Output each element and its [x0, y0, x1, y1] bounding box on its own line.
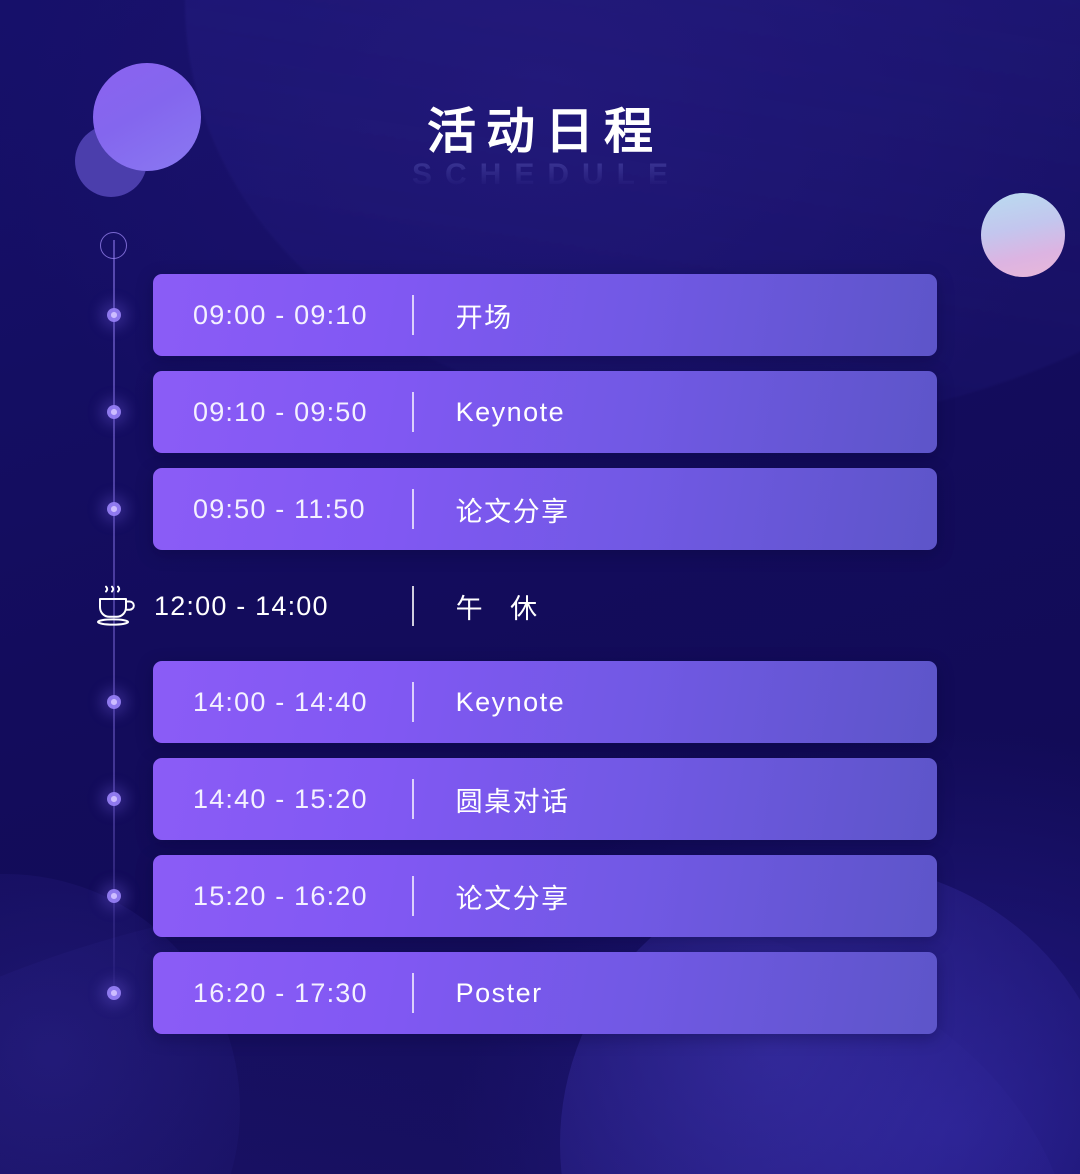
schedule-poster: 活动日程 SCHEDULE 09:00 - 09:10开场09:10 - 09:…	[0, 0, 1080, 1174]
schedule-row[interactable]: 14:00 - 14:40Keynote	[153, 661, 937, 743]
schedule-topic: 午 休	[414, 587, 548, 626]
schedule-time: 15:20 - 16:20	[153, 881, 412, 912]
schedule-row[interactable]: 12:00 - 14:00午 休	[92, 565, 937, 647]
schedule-topic: Keynote	[414, 687, 566, 718]
schedule-row[interactable]: 15:20 - 16:20论文分享	[153, 855, 937, 937]
schedule-time: 12:00 - 14:00	[154, 591, 412, 622]
schedule-topic: Keynote	[414, 397, 566, 428]
schedule-time: 09:50 - 11:50	[153, 494, 412, 525]
coffee-icon	[92, 583, 140, 629]
schedule-row[interactable]: 09:10 - 09:50Keynote	[153, 371, 937, 453]
schedule-topic: 开场	[414, 296, 513, 335]
schedule-time: 09:10 - 09:50	[153, 397, 412, 428]
schedule-row[interactable]: 09:00 - 09:10开场	[153, 274, 937, 356]
schedule-topic: 圆桌对话	[414, 780, 570, 819]
schedule-time: 14:00 - 14:40	[153, 687, 412, 718]
schedule-time: 09:00 - 09:10	[153, 300, 412, 331]
schedule-topic: 论文分享	[414, 877, 570, 916]
schedule-row[interactable]: 09:50 - 11:50论文分享	[153, 468, 937, 550]
schedule-list: 09:00 - 09:10开场09:10 - 09:50Keynote09:50…	[0, 0, 1080, 1174]
schedule-row[interactable]: 14:40 - 15:20圆桌对话	[153, 758, 937, 840]
schedule-row[interactable]: 16:20 - 17:30Poster	[153, 952, 937, 1034]
schedule-time: 16:20 - 17:30	[153, 978, 412, 1009]
schedule-time: 14:40 - 15:20	[153, 784, 412, 815]
schedule-topic: Poster	[414, 978, 543, 1009]
schedule-topic: 论文分享	[414, 490, 570, 529]
